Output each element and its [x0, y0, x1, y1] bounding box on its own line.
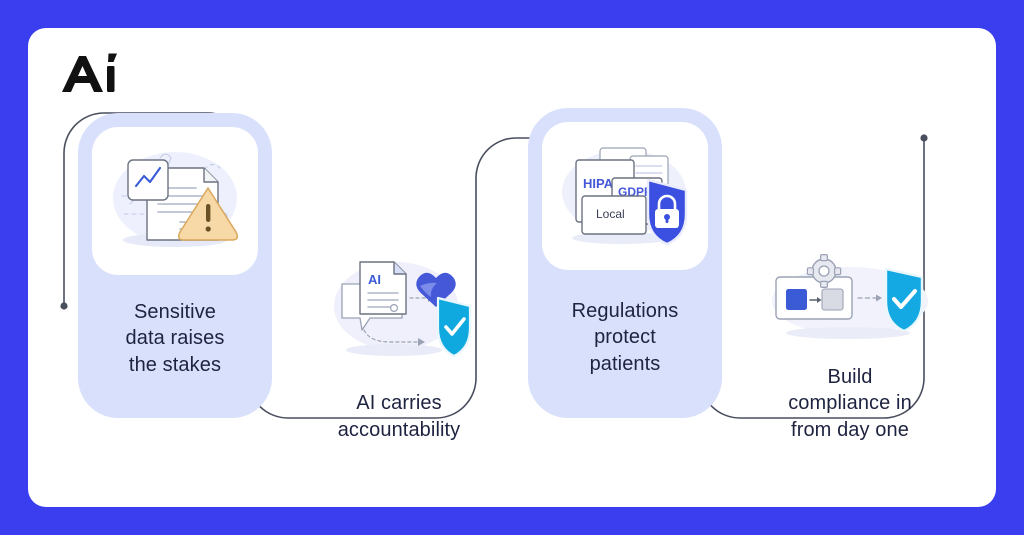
- workflow-gear-shield-icon: [762, 246, 938, 352]
- card-label: AI carries accountability: [338, 390, 461, 443]
- card-build-compliance[interactable]: Build compliance in from day one: [752, 138, 948, 443]
- left-end-dot: [60, 302, 67, 309]
- local-label: Local: [596, 207, 625, 221]
- card-label: Build compliance in from day one: [788, 364, 912, 443]
- content-canvas: Sensitive data raises the stakes AI: [28, 28, 996, 507]
- process-input-square: [786, 289, 807, 310]
- ai-badge-text: AI: [368, 272, 381, 287]
- card-ai-accountability[interactable]: AI AI carries: [302, 138, 496, 443]
- ai-wordmark-logo: [58, 48, 128, 98]
- card-label: Regulations protect patients: [572, 298, 679, 377]
- card-sensitive-data[interactable]: Sensitive data raises the stakes: [78, 113, 272, 418]
- ai-document-shield-icon: AI: [316, 233, 482, 378]
- card-regulations[interactable]: HIPAA GDPR Local Regulations protect pat…: [528, 108, 722, 418]
- regulation-docs-lock-icon: HIPAA GDPR Local: [542, 122, 708, 270]
- document-warning-icon: [92, 127, 258, 275]
- card-label: Sensitive data raises the stakes: [126, 299, 225, 378]
- process-output-square: [822, 289, 843, 310]
